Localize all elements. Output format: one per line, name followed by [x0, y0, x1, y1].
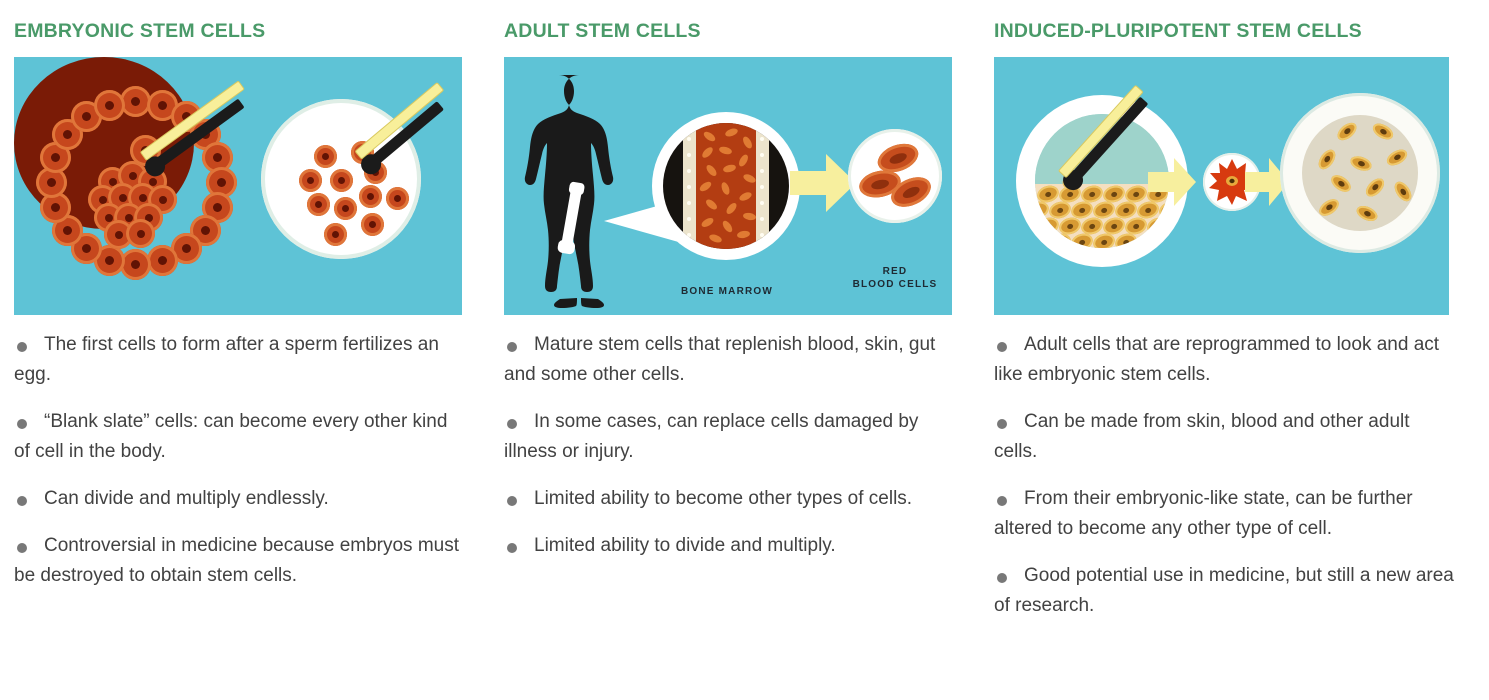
bullet-text: Can be made from skin, blood and other a…	[994, 411, 1410, 462]
bullet-dot	[997, 496, 1007, 506]
bullet-dot	[507, 496, 517, 506]
bullet-item: Controversial in medicine because embryo…	[14, 531, 465, 591]
illustration-adult: BONE MARROW RED BLOOD CELLS	[504, 57, 952, 315]
bullet-dot	[507, 419, 517, 429]
column-embryonic-stem-cells: EMBRYONIC STEM CELLS	[0, 14, 495, 700]
bullet-text: The first cells to form after a sperm fe…	[14, 334, 439, 385]
bullet-item: Mature stem cells that replenish blood, …	[504, 330, 960, 390]
bullet-dot	[997, 573, 1007, 583]
bullet-text: Mature stem cells that replenish blood, …	[504, 334, 935, 385]
bullet-item: Can divide and multiply endlessly.	[14, 484, 465, 514]
bullet-dot	[997, 342, 1007, 352]
bullet-dot	[17, 496, 27, 506]
bone-marrow-cross-section	[652, 112, 800, 260]
label-red-blood-cells: RED BLOOD CELLS	[832, 265, 952, 291]
bullet-item: Adult cells that are reprogrammed to loo…	[994, 330, 1454, 390]
bullet-item: Can be made from skin, blood and other a…	[994, 407, 1454, 467]
bullet-list-adult: Mature stem cells that replenish blood, …	[504, 330, 960, 561]
bullet-text: Good potential use in medicine, but stil…	[994, 565, 1454, 616]
bullet-list-embryonic: The first cells to form after a sperm fe…	[14, 330, 465, 591]
bullet-item: “Blank slate” cells: can become every ot…	[14, 407, 465, 467]
bullet-text: Adult cells that are reprogrammed to loo…	[994, 334, 1439, 385]
ips-dish-medium	[1302, 115, 1418, 231]
bullet-list-ips: Adult cells that are reprogrammed to loo…	[994, 330, 1454, 621]
bullet-text: Limited ability to divide and multiply.	[534, 535, 836, 556]
bullet-dot	[17, 419, 27, 429]
bullet-item: In some cases, can replace cells damaged…	[504, 407, 960, 467]
column-title-adult: ADULT STEM CELLS	[504, 20, 960, 43]
column-adult-stem-cells: ADULT STEM CELLS	[495, 14, 990, 700]
bullet-dot	[17, 342, 27, 352]
stem-cell-types-infographic: EMBRYONIC STEM CELLS	[0, 0, 1489, 700]
bullet-dot	[507, 342, 517, 352]
red-blood-cell-dish	[848, 129, 942, 223]
bullet-item: Limited ability to divide and multiply.	[504, 531, 960, 561]
illustration-ips	[994, 57, 1449, 315]
label-rbc-line-2: BLOOD CELLS	[832, 278, 952, 291]
bullet-text: Limited ability to become other types of…	[534, 488, 912, 509]
label-rbc-line-1: RED	[832, 265, 952, 278]
bone-marrow-core	[663, 123, 789, 249]
column-title-embryonic: EMBRYONIC STEM CELLS	[14, 20, 465, 43]
bullet-dot	[507, 543, 517, 553]
bullet-text: Can divide and multiply endlessly.	[44, 488, 329, 509]
bullet-dot	[17, 543, 27, 553]
bullet-item: From their embryonic-like state, can be …	[994, 484, 1454, 544]
label-bone-marrow: BONE MARROW	[652, 285, 802, 298]
bullet-item: Good potential use in medicine, but stil…	[994, 561, 1454, 621]
bullet-text: “Blank slate” cells: can become every ot…	[14, 411, 447, 462]
bullet-text: In some cases, can replace cells damaged…	[504, 411, 918, 462]
bullet-item: Limited ability to become other types of…	[504, 484, 960, 514]
yellow-arrow-icon-1	[1148, 157, 1196, 207]
column-induced-pluripotent-stem-cells: INDUCED-PLURIPOTENT STEM CELLS	[990, 14, 1489, 700]
ips-cell-dish	[1280, 93, 1440, 253]
bullet-item: The first cells to form after a sperm fe…	[14, 330, 465, 390]
bullet-text: From their embryonic-like state, can be …	[994, 488, 1413, 539]
bullet-text: Controversial in medicine because embryo…	[14, 535, 459, 586]
yellow-arrow-icon	[790, 153, 856, 213]
illustration-embryonic	[14, 57, 462, 315]
bullet-dot	[997, 419, 1007, 429]
column-title-ips: INDUCED-PLURIPOTENT STEM CELLS	[994, 20, 1454, 43]
